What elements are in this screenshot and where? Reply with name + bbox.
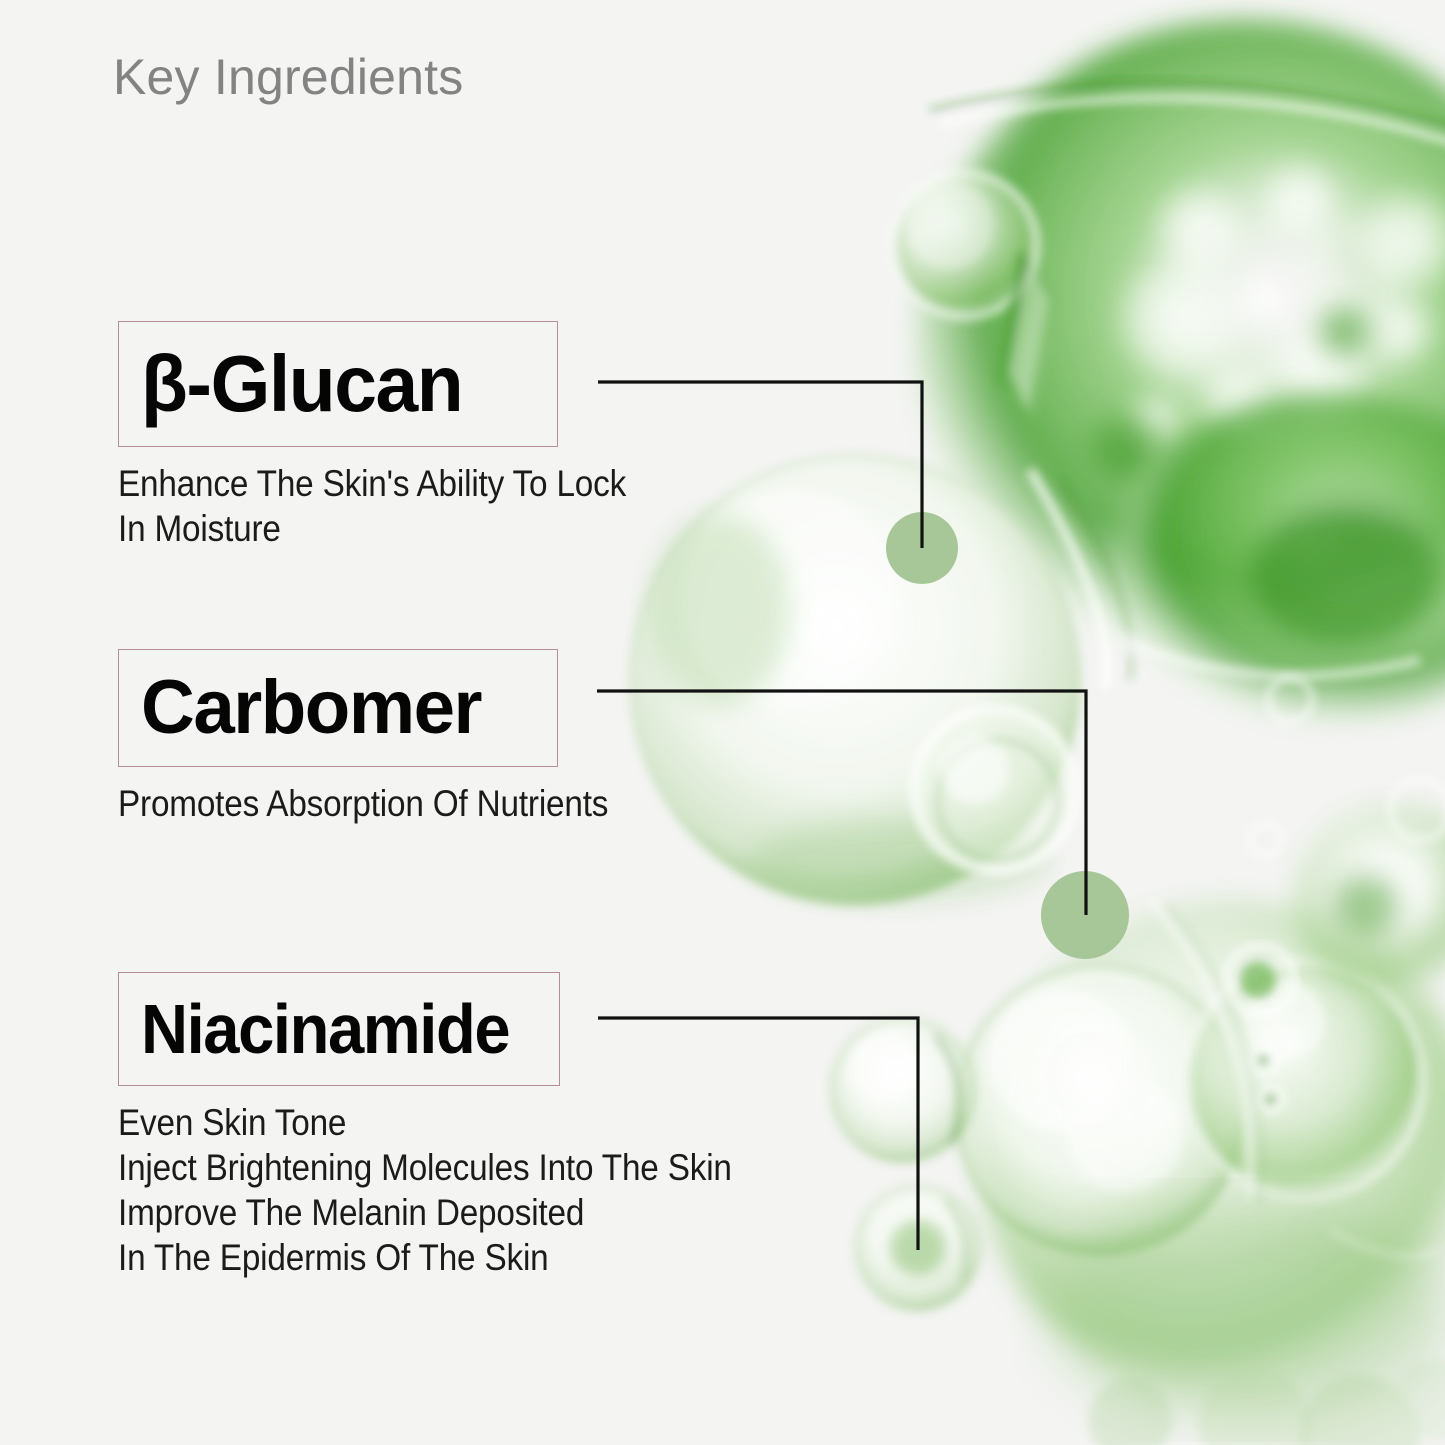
ingredient-block-beta-glucan: β-Glucan Enhance The Skin's Ability To L… <box>118 321 683 551</box>
ingredient-name: Niacinamide <box>141 994 509 1064</box>
ingredient-name-box: β-Glucan <box>118 321 558 447</box>
ingredient-name-box: Carbomer <box>118 649 558 767</box>
infographic-canvas: Key Ingredients β-Glucan Enhance The Ski… <box>0 0 1445 1445</box>
ingredient-name: β-Glucan <box>141 344 462 424</box>
ingredient-description: Even Skin Tone Inject Brightening Molecu… <box>118 1100 732 1281</box>
page-title: Key Ingredients <box>113 48 463 106</box>
ingredient-name-box: Niacinamide <box>118 972 560 1086</box>
ingredient-description: Enhance The Skin's Ability To Lock In Mo… <box>118 461 626 551</box>
description-line: In The Epidermis Of The Skin <box>118 1235 732 1280</box>
description-line: In Moisture <box>118 506 626 551</box>
connector-carbomer <box>597 691 1086 915</box>
description-line: Promotes Absorption Of Nutrients <box>118 781 608 826</box>
ingredient-description: Promotes Absorption Of Nutrients <box>118 781 608 826</box>
description-line: Enhance The Skin's Ability To Lock <box>118 461 626 506</box>
ingredient-block-niacinamide: Niacinamide Even Skin Tone Inject Bright… <box>118 972 800 1281</box>
description-line: Even Skin Tone <box>118 1100 732 1145</box>
description-line: Improve The Melanin Deposited <box>118 1190 732 1235</box>
ingredient-block-carbomer: Carbomer Promotes Absorption Of Nutrient… <box>118 649 663 826</box>
description-line: Inject Brightening Molecules Into The Sk… <box>118 1145 732 1190</box>
ingredient-name: Carbomer <box>141 670 481 746</box>
